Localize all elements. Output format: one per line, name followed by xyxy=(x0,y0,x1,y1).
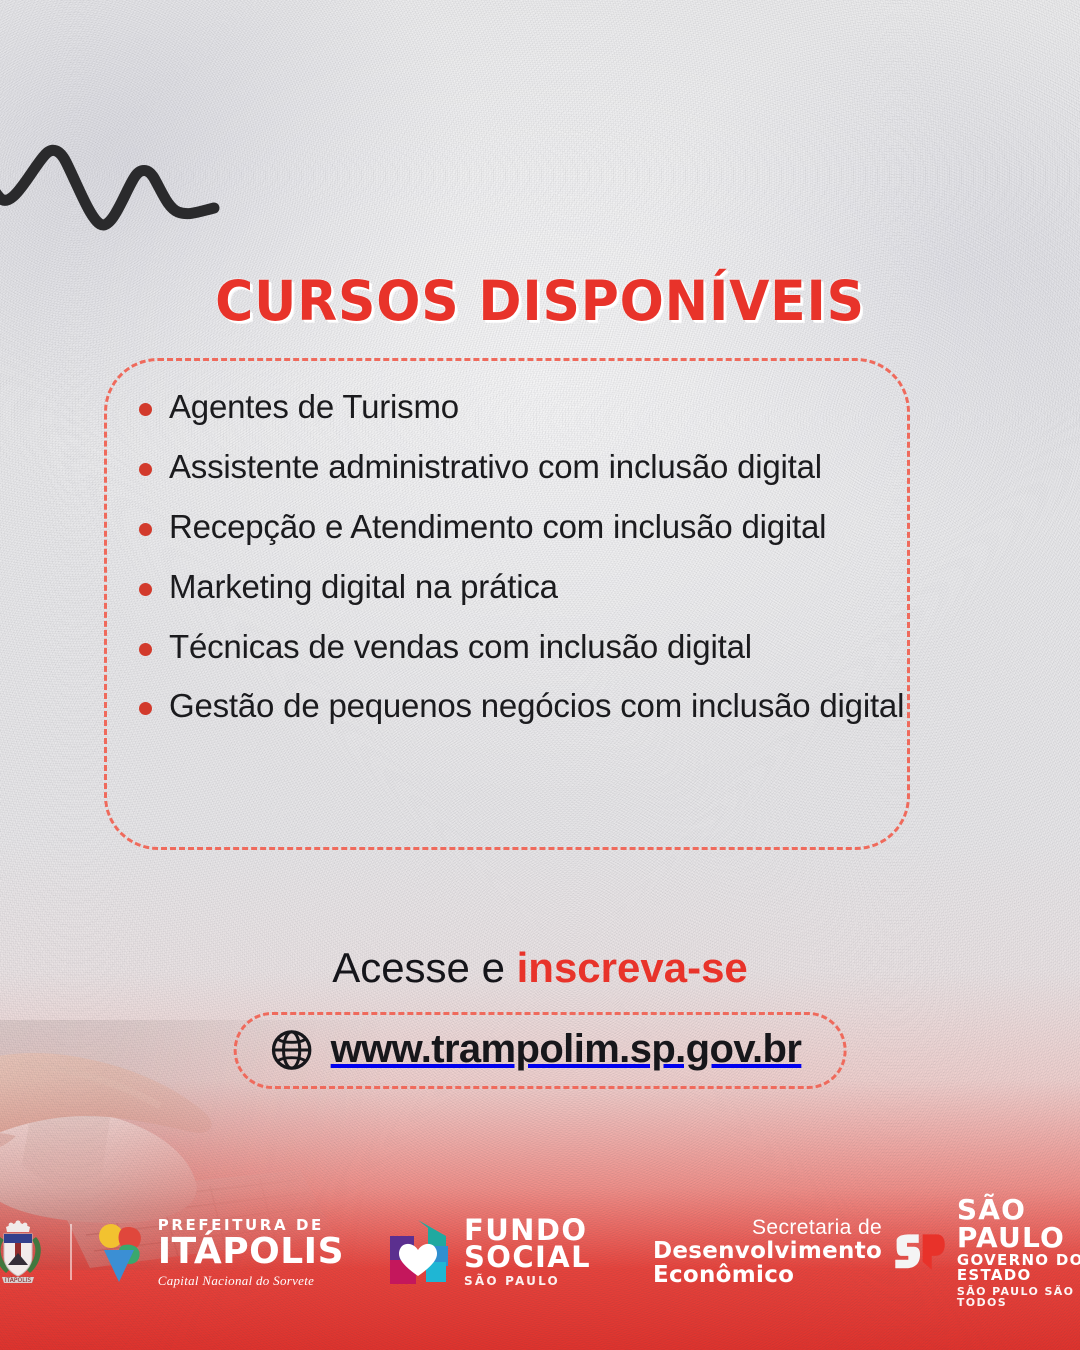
sp-line3: SÃO PAULO SÃO TODOS xyxy=(957,1286,1080,1308)
logo-fundo-social: FUNDO SOCIAL SÃO PAULO xyxy=(382,1216,591,1288)
itapolis-line2: ITÁPOLIS xyxy=(158,1234,344,1270)
zigzag-squiggle-icon xyxy=(0,120,236,235)
list-item: Técnicas de vendas com inclusão digital xyxy=(134,626,934,669)
logo-sao-paulo-governo: SÃO PAULO GOVERNO DO ESTADO SÃO PAULO SÃ… xyxy=(894,1196,1080,1308)
fundo-line2: SOCIAL xyxy=(464,1244,591,1272)
poster-canvas: CURSOS DISPONÍVEIS Agentes de Turismo As… xyxy=(0,0,1080,1350)
sp-gov-wordmark: SÃO PAULO GOVERNO DO ESTADO SÃO PAULO SÃ… xyxy=(957,1196,1080,1308)
page-title: CURSOS DISPONÍVEIS xyxy=(0,270,1080,334)
list-item: Recepção e Atendimento com inclusão digi… xyxy=(134,506,934,549)
sp-logo-icon xyxy=(894,1223,945,1281)
fundo-line3: SÃO PAULO xyxy=(464,1276,560,1287)
website-url-text: www.trampolim.sp.gov.br xyxy=(331,1027,802,1072)
logo-divider xyxy=(70,1224,72,1280)
itapolis-coat-of-arms-icon: ITÁPOLIS xyxy=(0,1219,48,1285)
cta-prefix: Acesse e xyxy=(332,944,516,991)
svg-text:ITÁPOLIS: ITÁPOLIS xyxy=(5,1277,32,1284)
secretaria-line2: Desenvolvimento Econômico xyxy=(653,1239,882,1287)
cta-accent: inscreva-se xyxy=(517,944,748,991)
list-item: Agentes de Turismo xyxy=(134,386,934,429)
website-url-button[interactable]: www.trampolim.sp.gov.br xyxy=(234,1012,847,1089)
itapolis-tagline: Capital Nacional do Sorvete xyxy=(158,1274,315,1287)
logo-secretaria-desenvolvimento-economico: Secretaria de Desenvolvimento Econômico xyxy=(653,1217,882,1287)
footer-logo-bar: ITÁPOLIS PREFEITURA DE ITÁPOLIS Capital … xyxy=(0,1206,1080,1298)
fundo-social-wordmark: FUNDO SOCIAL SÃO PAULO xyxy=(464,1217,591,1287)
sp-line1: SÃO PAULO xyxy=(957,1196,1080,1253)
list-item: Assistente administrativo com inclusão d… xyxy=(134,446,934,489)
itapolis-wordmark: PREFEITURA DE ITÁPOLIS Capital Nacional … xyxy=(158,1218,344,1287)
secretaria-wordmark: Secretaria de Desenvolvimento Econômico xyxy=(653,1217,882,1287)
call-to-action-text: Acesse e inscreva-se xyxy=(0,944,1080,992)
fundo-social-house-heart-icon xyxy=(382,1216,454,1288)
logo-prefeitura-itapolis: ITÁPOLIS PREFEITURA DE ITÁPOLIS Capital … xyxy=(0,1218,344,1287)
secretaria-line1: Secretaria de xyxy=(752,1217,882,1239)
ice-cream-cone-icon xyxy=(94,1219,148,1285)
sp-line2: GOVERNO DO ESTADO xyxy=(957,1253,1080,1284)
list-item: Marketing digital na prática xyxy=(134,566,934,609)
globe-icon xyxy=(271,1029,313,1071)
course-list: Agentes de Turismo Assistente administra… xyxy=(134,386,934,745)
list-item: Gestão de pequenos negócios com inclusão… xyxy=(134,685,934,728)
